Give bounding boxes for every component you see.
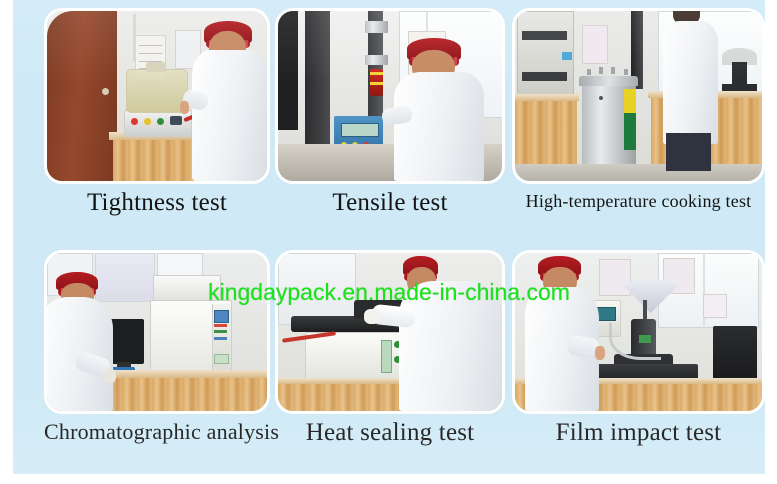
photo-chromatographic-analysis[interactable] [44, 250, 270, 414]
photo-tightness-test[interactable] [44, 8, 270, 184]
photo-high-temperature-cooking-test[interactable] [512, 8, 765, 184]
panel-tightness-test[interactable]: Tightness test [44, 8, 270, 184]
panel-chromatographic-analysis[interactable]: Chromatographic analysis [44, 250, 270, 414]
photo-film-impact-test[interactable] [512, 250, 765, 414]
scene-film-impact-test [515, 253, 762, 411]
scene-tightness-test [47, 11, 267, 181]
scene-tensile-test [278, 11, 502, 181]
panel-heat-sealing-test[interactable]: Heat sealing test [275, 250, 505, 414]
panel-high-temperature-cooking-test[interactable]: High-temperature cooking test [512, 8, 765, 184]
caption-high-temperature-cooking-test: High-temperature cooking test [512, 188, 765, 214]
caption-heat-sealing-test: Heat sealing test [275, 418, 505, 448]
panel-film-impact-test[interactable]: Film impact test [512, 250, 765, 414]
scene-high-temperature-cooking-test [515, 11, 762, 181]
caption-tightness-test: Tightness test [44, 188, 270, 218]
caption-film-impact-test: Film impact test [512, 418, 765, 448]
image-collage-board: Tightness test [13, 0, 765, 474]
scene-chromatographic-analysis [47, 253, 267, 411]
page-root: Tightness test [0, 0, 777, 484]
caption-chromatographic-analysis: Chromatographic analysis [44, 418, 270, 446]
photo-tensile-test[interactable] [275, 8, 505, 184]
scene-heat-sealing-test [278, 253, 502, 411]
panel-tensile-test[interactable]: Tensile test [275, 8, 505, 184]
panel-row-bottom: Chromatographic analysis [13, 250, 765, 474]
caption-tensile-test: Tensile test [275, 188, 505, 218]
photo-heat-sealing-test[interactable] [275, 250, 505, 414]
panel-row-top: Tightness test [13, 8, 765, 240]
